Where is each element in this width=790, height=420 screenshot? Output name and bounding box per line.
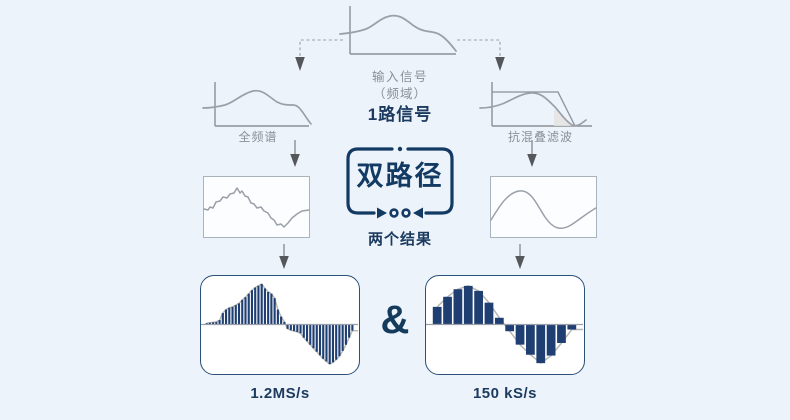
- arrow-to-right-panel: [508, 244, 532, 270]
- sine-waveform-box: [490, 176, 597, 238]
- dual-path-badge-text: 双路径: [340, 163, 460, 190]
- ampersand-conjunction: &: [368, 300, 422, 340]
- anti-alias-filter-chart: [480, 80, 600, 135]
- arrow-right-icon: [377, 208, 387, 219]
- arrow-to-left-waveform: [283, 140, 307, 168]
- high-rate-sampled-panel: [200, 275, 360, 375]
- broadband-waveform-box: [203, 176, 310, 238]
- branch-connectors: [280, 38, 520, 74]
- arrow-left-icon: [413, 208, 423, 219]
- low-rate-sampled-panel: [425, 275, 585, 375]
- one-channel-label: 1路信号: [330, 100, 470, 125]
- high-rate-label: 1.2MS/s: [200, 385, 360, 402]
- arrow-to-left-panel: [272, 244, 296, 270]
- two-results-label: 两个结果: [340, 228, 460, 249]
- diagram-canvas: 输入信号 （频域） 1路信号 全频谱: [0, 0, 790, 420]
- low-rate-label: 150 kS/s: [425, 385, 585, 402]
- arrow-to-right-waveform: [520, 140, 544, 168]
- full-spectrum-chart: [203, 80, 313, 135]
